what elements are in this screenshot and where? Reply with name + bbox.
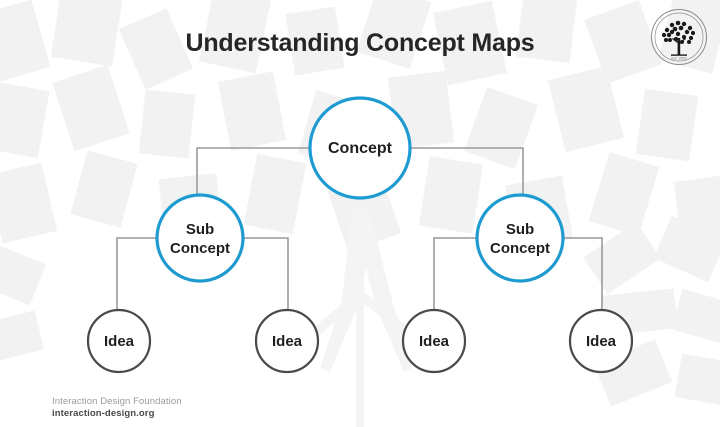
- node-sub-right-label-line1: Sub: [506, 221, 534, 238]
- concept-map-diagram: Concept Sub Concept Sub Concept Idea Ide…: [0, 0, 720, 427]
- node-sub-concept-left[interactable]: Sub Concept: [157, 195, 243, 281]
- edge-sub-right-to-idea-4: [564, 238, 602, 309]
- edge-sub-left-to-idea-1: [117, 238, 156, 309]
- node-idea-1-label: Idea: [104, 333, 135, 350]
- node-idea-4[interactable]: Idea: [570, 310, 632, 372]
- node-sub-left-label-line2: Concept: [170, 240, 230, 257]
- node-sub-right-label-line2: Concept: [490, 240, 550, 257]
- node-sub-left-circle[interactable]: [157, 195, 243, 281]
- edge-concept-to-sub-right: [411, 148, 523, 196]
- node-sub-concept-right[interactable]: Sub Concept: [477, 195, 563, 281]
- node-sub-right-circle[interactable]: [477, 195, 563, 281]
- node-idea-3[interactable]: Idea: [403, 310, 465, 372]
- node-concept-label: Concept: [328, 140, 393, 157]
- footer: Interaction Design Foundation interactio…: [52, 396, 182, 420]
- footer-url[interactable]: interaction-design.org: [52, 408, 182, 420]
- node-idea-2[interactable]: Idea: [256, 310, 318, 372]
- edge-concept-to-sub-left: [197, 148, 309, 196]
- node-sub-left-label-line1: Sub: [186, 221, 214, 238]
- footer-organization: Interaction Design Foundation: [52, 396, 182, 408]
- node-idea-2-label: Idea: [272, 333, 303, 350]
- node-idea-3-label: Idea: [419, 333, 450, 350]
- slide-canvas: Understanding Concept Maps Est. 2002: [0, 0, 720, 427]
- edge-sub-left-to-idea-2: [244, 238, 288, 309]
- node-concept[interactable]: Concept: [310, 98, 410, 198]
- node-idea-4-label: Idea: [586, 333, 617, 350]
- edge-sub-right-to-idea-3: [434, 238, 476, 309]
- node-idea-1[interactable]: Idea: [88, 310, 150, 372]
